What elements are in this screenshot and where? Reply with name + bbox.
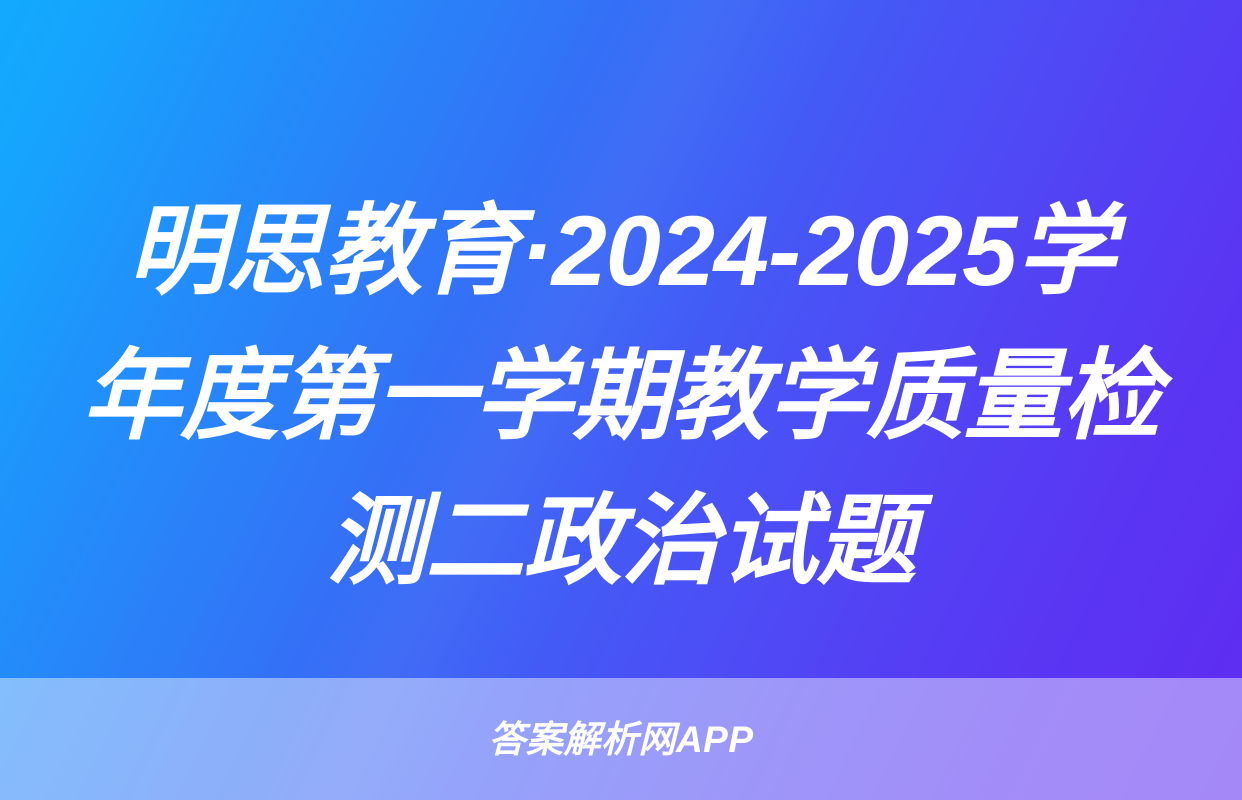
exam-cover-card: 明思教育·2024-2025学 年度第一学期教学质量检 测二政治试题 答案解析网…: [0, 0, 1242, 800]
footer-watermark-band: 答案解析网APP: [0, 678, 1242, 800]
title-line-1: 明思教育·2024-2025学: [34, 178, 1208, 323]
title-line-2: 年度第一学期教学质量检: [34, 323, 1208, 468]
title-line-3: 测二政治试题: [34, 468, 1208, 613]
footer-watermark-label: 答案解析网APP: [488, 721, 753, 758]
page-title: 明思教育·2024-2025学 年度第一学期教学质量检 测二政治试题: [0, 178, 1242, 613]
